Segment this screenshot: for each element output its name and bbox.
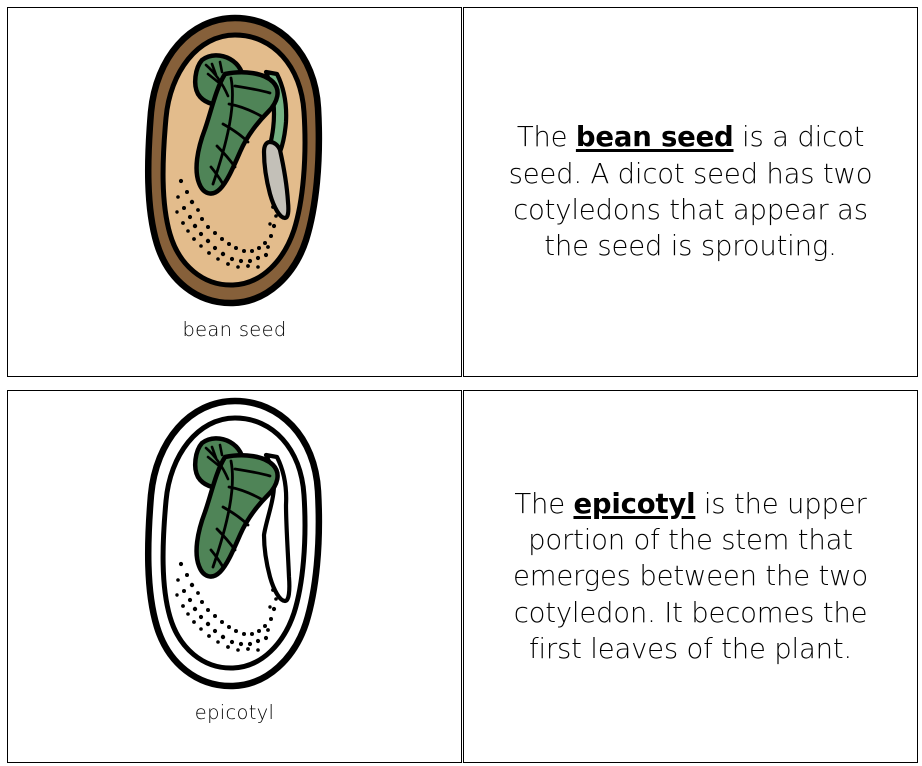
definition-text-epicotyl: The epicotyl is the upper portion of the… [498,486,883,667]
card-epicotyl-picture: epicotyl [7,390,462,763]
definition-text-bean-seed: The bean seed is a dicot seed. A dicot s… [498,119,883,264]
nomenclature-card-sheet: bean seed The bean seed is a dicot seed.… [0,0,922,766]
bean-seed-svg [140,12,330,312]
definition-prefix: The [517,121,576,153]
definition-prefix: The [514,488,573,520]
definition-term-epicotyl: epicotyl [573,488,695,520]
definition-term-bean-seed: bean seed [576,121,734,153]
card-bean-seed-picture: bean seed [7,7,462,377]
epicotyl-seed-svg [140,395,330,695]
picture-label-epicotyl: epicotyl [195,701,274,724]
epicotyl-outline-illustration [8,395,461,695]
bean-seed-colored-illustration [8,12,461,312]
picture-label-bean-seed: bean seed [182,318,286,341]
card-bean-seed-definition: The bean seed is a dicot seed. A dicot s… [463,7,918,377]
card-epicotyl-definition: The epicotyl is the upper portion of the… [463,390,918,763]
